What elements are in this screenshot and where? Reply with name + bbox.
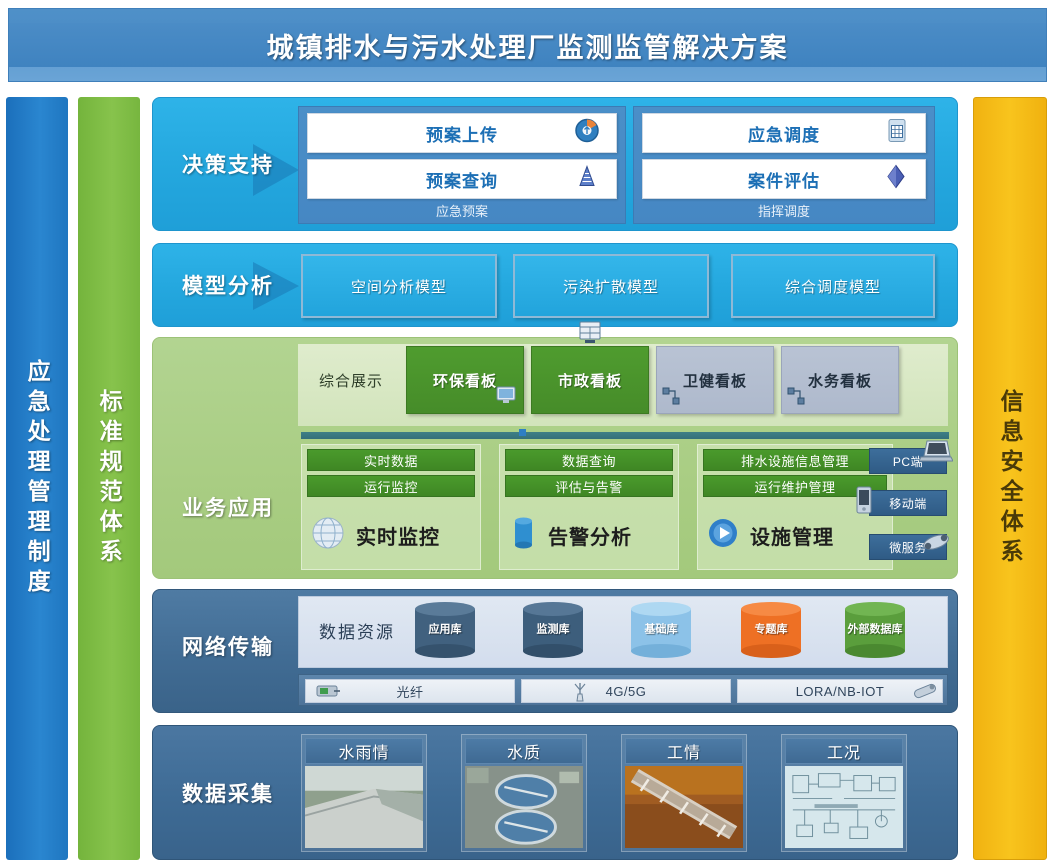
board-environment[interactable]: 环保看板 <box>406 346 524 414</box>
device-button-label: 移动端 <box>889 495 927 512</box>
antenna-icon <box>572 681 588 706</box>
business-chip[interactable]: 评估与告警 <box>505 475 673 497</box>
database-application[interactable]: 应用库 <box>415 602 475 658</box>
page-title: 城镇排水与污水处理厂监测监管解决方案 <box>267 26 789 65</box>
layer-network-label: 网络传输 <box>159 631 297 661</box>
business-chip[interactable]: 实时数据 <box>307 449 475 471</box>
pyramid-icon <box>574 164 600 195</box>
network-link-lora[interactable]: LORA/NB-IOT <box>737 679 943 703</box>
model-card-dispatch[interactable]: 综合调度模型 <box>731 254 935 318</box>
model-card-label: 污染扩散模型 <box>563 276 659 297</box>
database-foundation[interactable]: 基础库 <box>631 602 691 658</box>
board-municipal[interactable]: 市政看板 <box>531 346 649 414</box>
model-card-spatial[interactable]: 空间分析模型 <box>301 254 497 318</box>
business-chip[interactable]: 数据查询 <box>505 449 673 471</box>
database-label: 外部数据库 <box>845 624 905 637</box>
decision-group-sublabel: 应急预案 <box>299 201 625 220</box>
database-label: 应用库 <box>415 624 475 637</box>
collection-item-works[interactable]: 工情 <box>621 734 747 852</box>
pillar-security-label: 信息安全体系 <box>998 389 1022 569</box>
business-chip-label: 评估与告警 <box>555 477 623 496</box>
collection-item-header: 工况 <box>785 738 903 764</box>
business-main-item[interactable]: 实时监控 <box>308 509 474 561</box>
pillar-standards: 标准规范体系 <box>78 97 140 860</box>
device-button-mobile[interactable]: 移动端 <box>869 490 947 516</box>
database-monitoring[interactable]: 监测库 <box>523 602 583 658</box>
model-card-label: 空间分析模型 <box>351 276 447 297</box>
page-title-bar: 城镇排水与污水处理厂监测监管解决方案 <box>8 8 1047 82</box>
database-label: 监测库 <box>523 624 583 637</box>
clarifier-photo <box>465 766 583 848</box>
schematic-photo <box>785 766 903 848</box>
board-water-affairs[interactable]: 水务看板 <box>781 346 899 414</box>
sensor-icon <box>910 680 940 705</box>
cylinder-icon <box>506 513 540 558</box>
business-column-alarm: 数据查询 评估与告警 告警分析 <box>499 444 679 570</box>
decision-group-sublabel: 指挥调度 <box>634 201 934 220</box>
fiber-icon <box>314 682 342 703</box>
board-label: 卫健看板 <box>683 370 747 391</box>
layer-stack: 决策支持 预案上传 预案查询 <box>152 97 958 860</box>
pipeline-photo <box>625 766 743 848</box>
network-link-label: 光纤 <box>396 682 423 701</box>
business-column-monitoring: 实时数据 运行监控 实时监控 <box>301 444 481 570</box>
collection-item-label: 水质 <box>507 739 541 763</box>
business-chip[interactable]: 排水设施信息管理 <box>703 449 887 471</box>
collection-item-rainfall[interactable]: 水雨情 <box>301 734 427 852</box>
network-link-label: LORA/NB-IOT <box>796 684 885 699</box>
network-link-4g5g[interactable]: 4G/5G <box>521 679 731 703</box>
layer-data-collection: 数据采集 水雨情 水质 <box>152 725 958 860</box>
board-label: 环保看板 <box>433 370 497 391</box>
decision-card-label: 预案查询 <box>426 167 498 192</box>
business-display-label: 综合展示 <box>308 370 394 391</box>
board-label: 市政看板 <box>558 370 622 391</box>
phone-icon <box>921 530 951 559</box>
database-external[interactable]: 外部数据库 <box>845 602 905 658</box>
collection-item-label: 水雨情 <box>338 739 389 763</box>
board-health[interactable]: 卫健看板 <box>656 346 774 414</box>
decision-card-label: 应急调度 <box>748 121 820 146</box>
collection-item-header: 工情 <box>625 738 743 764</box>
window-icon <box>577 321 603 349</box>
architecture-diagram: 城镇排水与污水处理厂监测监管解决方案 应急处理管理制度 标准规范体系 信息安全体… <box>0 0 1055 868</box>
board-label: 水务看板 <box>808 370 872 391</box>
diamond-icon <box>883 164 909 195</box>
model-card-label: 综合调度模型 <box>785 276 881 297</box>
layer-business-label: 业务应用 <box>159 492 297 522</box>
network-links-panel: 光纤 4G/5G LORA/NB-IOT <box>298 674 948 706</box>
layer-decision-label: 决策支持 <box>159 149 297 179</box>
database-label: 基础库 <box>631 624 691 637</box>
database-label: 专题库 <box>741 624 801 637</box>
decision-card-plan-query[interactable]: 预案查询 <box>307 159 617 199</box>
decision-card-plan-upload[interactable]: 预案上传 <box>307 113 617 153</box>
decision-card-label: 预案上传 <box>426 121 498 146</box>
globe-icon <box>308 513 348 558</box>
grid-table-icon <box>885 118 909 149</box>
decision-group-emergency-plan: 预案上传 预案查询 <box>298 106 626 224</box>
network-link-fiber[interactable]: 光纤 <box>305 679 515 703</box>
canal-photo <box>305 766 423 848</box>
data-resource-label: 数据资源 <box>305 618 409 643</box>
business-main-label: 实时监控 <box>356 521 440 550</box>
business-main-item[interactable]: 告警分析 <box>506 509 672 561</box>
business-main-label: 设施管理 <box>750 521 834 550</box>
play-circle-icon <box>704 514 742 557</box>
upload-gauge-icon <box>574 118 600 149</box>
business-chip-label: 数据查询 <box>562 451 616 470</box>
layer-model-analysis: 模型分析 空间分析模型 污染扩散模型 综合调度模型 <box>152 243 958 327</box>
business-chip-label: 运行监控 <box>364 477 418 496</box>
business-chip-label: 实时数据 <box>364 451 418 470</box>
mobile-icon <box>855 486 873 519</box>
monitor-icon <box>495 385 517 409</box>
pillar-information-security: 信息安全体系 <box>973 97 1047 860</box>
decision-card-case-assessment[interactable]: 案件评估 <box>642 159 926 199</box>
pillar-emergency-label: 应急处理管理制度 <box>25 359 49 599</box>
divider-knob <box>519 429 526 436</box>
collection-item-condition[interactable]: 工况 <box>781 734 907 852</box>
layer-network-transmission: 网络传输 数据资源 应用库 监测库 基础库 <box>152 589 958 713</box>
layer-model-label: 模型分析 <box>159 270 297 300</box>
layer-business-application: 综合展示 环保看板 市政看板 <box>152 337 958 579</box>
layer-decision-support: 决策支持 预案上传 预案查询 <box>152 97 958 231</box>
pillar-standards-label: 标准规范体系 <box>97 389 121 569</box>
node-icon <box>662 387 680 409</box>
layer-data-label: 数据采集 <box>159 778 297 808</box>
business-chip-label: 运行维护管理 <box>754 477 835 496</box>
collection-item-header: 水质 <box>465 738 583 764</box>
decision-card-emergency-dispatch[interactable]: 应急调度 <box>642 113 926 153</box>
database-thematic[interactable]: 专题库 <box>741 602 801 658</box>
decision-card-label: 案件评估 <box>748 167 820 192</box>
laptop-icon <box>919 438 953 469</box>
network-link-label: 4G/5G <box>606 684 647 699</box>
collection-item-header: 水雨情 <box>305 738 423 764</box>
decision-group-command-dispatch: 应急调度 案件评估 <box>633 106 935 224</box>
node-icon <box>787 387 805 409</box>
business-chip-label: 排水设施信息管理 <box>741 451 849 470</box>
collection-item-water-quality[interactable]: 水质 <box>461 734 587 852</box>
collection-item-label: 工情 <box>667 739 701 763</box>
business-main-label: 告警分析 <box>548 521 632 550</box>
collection-item-label: 工况 <box>827 739 861 763</box>
business-chip[interactable]: 运行监控 <box>307 475 475 497</box>
business-divider <box>301 432 949 439</box>
model-card-pollution[interactable]: 污染扩散模型 <box>513 254 709 318</box>
pillar-emergency-management: 应急处理管理制度 <box>6 97 68 860</box>
